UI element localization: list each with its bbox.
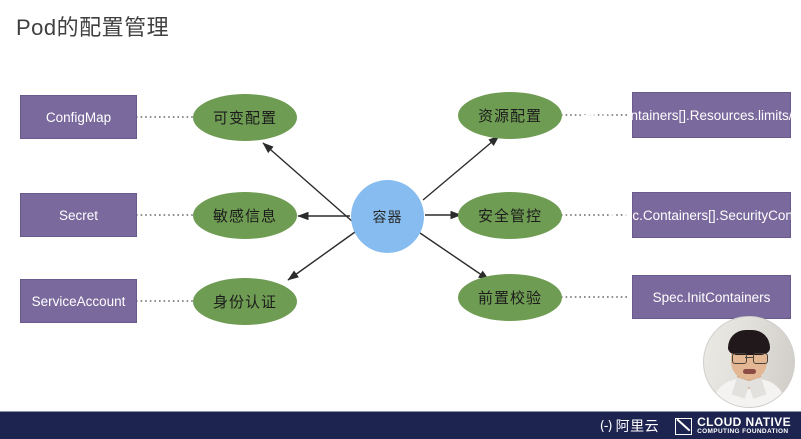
presenter-mouth <box>743 369 756 374</box>
slide-canvas: Pod的配置管理 <box>0 0 801 439</box>
cncf-logo-text: CLOUD NATIVE COMPUTING FOUNDATION <box>697 416 791 435</box>
topic-ellipse-init-check-label: 前置校验 <box>478 287 542 308</box>
presenter-video-bubble[interactable] <box>703 316 795 408</box>
spec-box-resources-label: Spec.Containers[].Resources.limits/reque… <box>579 107 801 124</box>
presenter-glasses-right <box>753 353 768 364</box>
topic-ellipse-resource-config[interactable]: 资源配置 <box>458 92 562 139</box>
pod-config-diagram: ConfigMap Secret ServiceAccount 可变配置 敏感信… <box>0 0 801 410</box>
presenter-glasses-bridge <box>745 357 753 358</box>
source-box-configmap-label: ConfigMap <box>46 109 111 126</box>
topic-ellipse-sensitive-info-label: 敏感信息 <box>213 205 277 226</box>
topic-ellipse-init-check[interactable]: 前置校验 <box>458 274 562 321</box>
topic-ellipse-identity-auth-label: 身份认证 <box>213 291 277 312</box>
presenter-glasses-left <box>732 353 747 364</box>
center-node-container[interactable]: 容器 <box>351 180 424 253</box>
cncf-logo-line2: COMPUTING FOUNDATION <box>697 429 791 436</box>
topic-ellipse-security-control-label: 安全管控 <box>478 205 542 226</box>
arrow-container-to-identity-auth <box>288 232 355 280</box>
cncf-logo: CLOUD NATIVE COMPUTING FOUNDATION <box>675 416 791 435</box>
topic-ellipse-resource-config-label: 资源配置 <box>478 105 542 126</box>
presenter-hair <box>728 330 770 354</box>
source-box-secret-label: Secret <box>59 207 98 224</box>
arrow-container-to-init-check <box>420 233 489 280</box>
cncf-logo-line1: CLOUD NATIVE <box>697 416 791 429</box>
center-node-container-label: 容器 <box>373 207 403 227</box>
spec-box-securitycontext-label: Spec.Containers[].SecurityContext <box>608 207 801 224</box>
source-box-secret[interactable]: Secret <box>20 193 137 237</box>
alibaba-cloud-logo-text: 阿里云 <box>616 416 660 436</box>
source-box-configmap[interactable]: ConfigMap <box>20 95 137 139</box>
topic-ellipse-mutable-config[interactable]: 可变配置 <box>193 94 297 141</box>
spec-box-initcontainers[interactable]: Spec.InitContainers <box>632 275 791 319</box>
alibaba-cloud-mark-icon: (-) <box>600 419 612 434</box>
topic-ellipse-mutable-config-label: 可变配置 <box>213 107 277 128</box>
topic-ellipse-sensitive-info[interactable]: 敏感信息 <box>193 192 297 239</box>
spec-box-initcontainers-label: Spec.InitContainers <box>653 289 771 306</box>
cncf-mark-icon <box>675 418 692 435</box>
spec-box-securitycontext[interactable]: Spec.Containers[].SecurityContext <box>632 192 791 238</box>
source-box-serviceaccount[interactable]: ServiceAccount <box>20 279 137 323</box>
spec-box-resources[interactable]: Spec.Containers[].Resources.limits/reque… <box>632 92 791 138</box>
footer-bar: (-) 阿里云 CLOUD NATIVE COMPUTING FOUNDATIO… <box>0 411 801 439</box>
alibaba-cloud-logo: (-) 阿里云 <box>600 416 659 436</box>
source-box-serviceaccount-label: ServiceAccount <box>32 293 126 310</box>
arrow-container-to-resource-config <box>423 136 499 200</box>
topic-ellipse-security-control[interactable]: 安全管控 <box>458 192 562 239</box>
topic-ellipse-identity-auth[interactable]: 身份认证 <box>193 278 297 325</box>
